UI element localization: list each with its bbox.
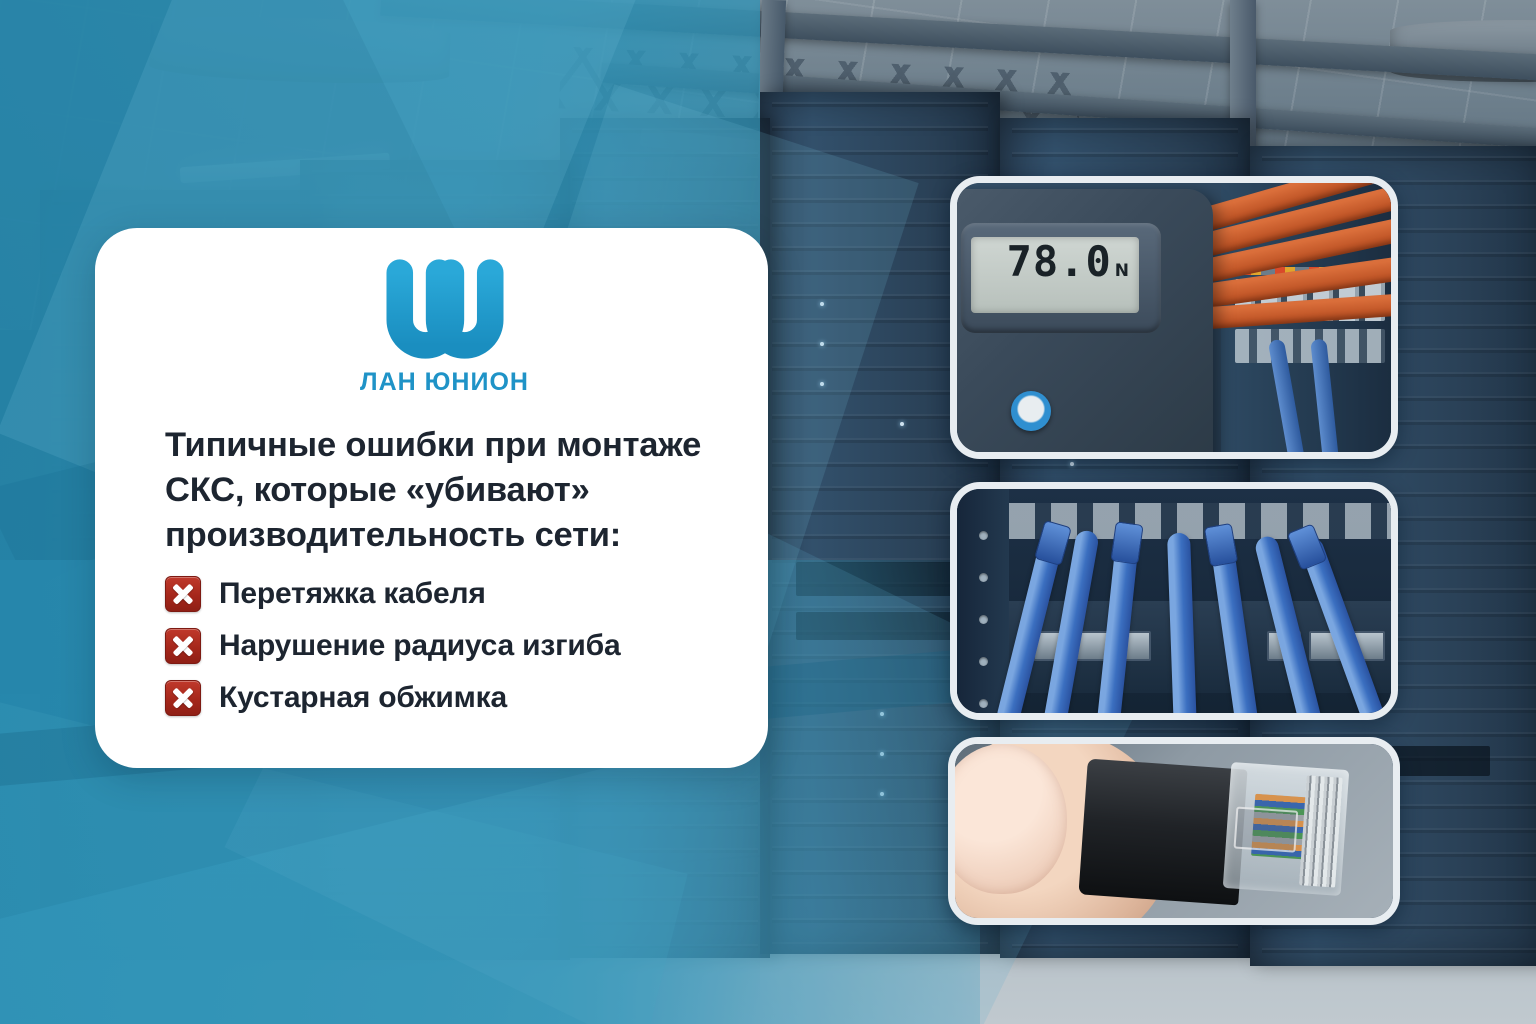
poster-canvas: ЛАН ЮНИОН Типичные ошибки при монтаже СК…	[0, 0, 1536, 1024]
brand-wordmark: ЛАН ЮНИОН	[360, 368, 529, 397]
meter-power-button	[1011, 391, 1051, 431]
meter-bezel: 78.0 N	[961, 223, 1161, 333]
list-item: Перетяжка кабеля	[165, 576, 724, 612]
list-item: Нарушение радиуса изгиба	[165, 628, 724, 664]
cross-mark-icon	[165, 576, 201, 612]
content-card: ЛАН ЮНИОН Типичные ошибки при монтаже СК…	[95, 228, 768, 768]
meter-lcd-display: 78.0 N	[971, 237, 1139, 313]
rj45-connector-photo	[948, 737, 1400, 925]
list-item-label: Перетяжка кабеля	[219, 577, 486, 611]
meter-value: 78.0	[1007, 237, 1112, 286]
list-item: Кустарная обжимка	[165, 680, 724, 716]
cable-tension-meter-photo: 78.0 N	[950, 176, 1398, 459]
patch-panel-cables-photo	[950, 482, 1398, 720]
rack-rail	[957, 489, 1009, 713]
list-item-label: Кустарная обжимка	[219, 681, 507, 715]
brand-logo: ЛАН ЮНИОН	[165, 258, 724, 397]
lan-union-w-logo-icon	[386, 258, 504, 362]
rj45-connector	[1223, 762, 1350, 896]
connector-pins	[1299, 775, 1343, 887]
rj45-plug	[1110, 521, 1143, 565]
list-item-label: Нарушение радиуса изгиба	[219, 629, 620, 663]
meter-unit: N	[1115, 261, 1129, 281]
cross-mark-icon	[165, 628, 201, 664]
tension-meter-body: 78.0 N	[957, 189, 1213, 452]
thumbnail	[955, 744, 1067, 894]
cross-mark-icon	[165, 680, 201, 716]
page-title: Типичные ошибки при монтаже СКС, которые…	[165, 423, 724, 558]
connector-latch	[1234, 806, 1299, 852]
mistakes-list: Перетяжка кабеля Нарушение радиуса изгиб…	[165, 576, 724, 716]
